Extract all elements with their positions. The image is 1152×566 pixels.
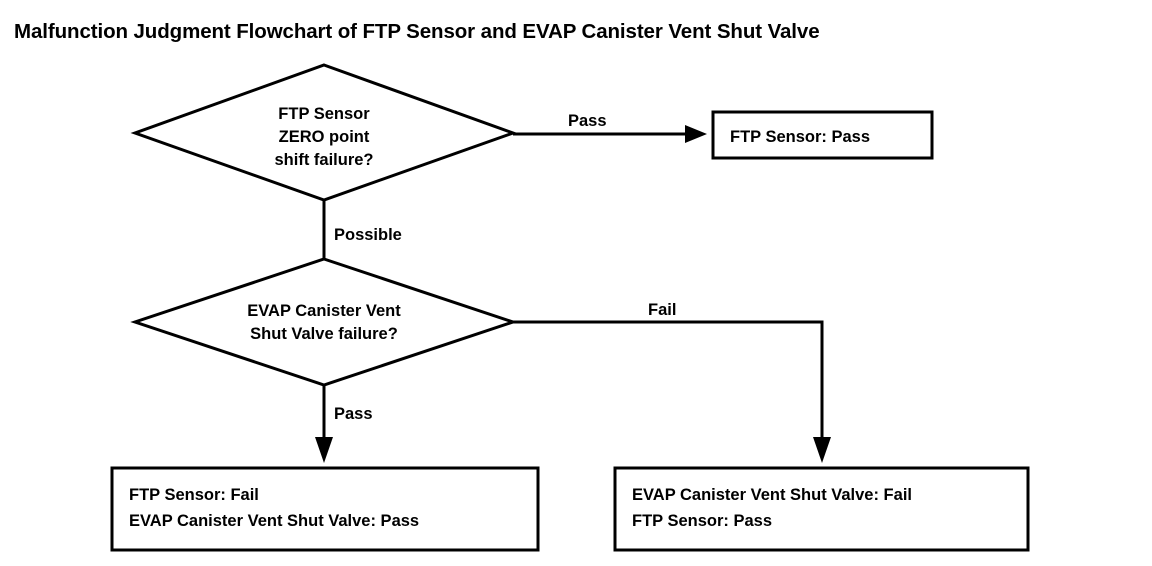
edge-label-possible: Possible [334, 226, 402, 244]
edge-ftp-to-evap: Possible [324, 200, 402, 259]
result-ftp-fail-line-1: FTP Sensor: Fail [129, 486, 259, 504]
page-title: Malfunction Judgment Flowchart of FTP Se… [14, 20, 820, 43]
result-evap-fail-line-2: FTP Sensor: Pass [632, 512, 772, 530]
decision-ftp-line-3: shift failure? [274, 151, 373, 169]
edge-ftp-to-pass: Pass [513, 112, 707, 143]
decision-node-evap-valve: EVAP Canister Vent Shut Valve failure? [135, 259, 513, 385]
decision-ftp-line-1: FTP Sensor [278, 105, 370, 123]
result-node-evap-fail: EVAP Canister Vent Shut Valve: Fail FTP … [615, 468, 1028, 550]
arrowhead-evap-to-ftp-fail [315, 437, 333, 463]
edge-evap-to-ftp-fail: Pass [315, 385, 373, 463]
edge-label-pass-evap: Pass [334, 405, 373, 423]
edge-label-fail: Fail [648, 301, 676, 319]
arrowhead-evap-to-evap-fail [813, 437, 831, 463]
arrowhead-ftp-to-pass [685, 125, 707, 143]
decision-ftp-line-2: ZERO point [279, 128, 370, 146]
diamond-shape-evap-valve [135, 259, 513, 385]
result-ftp-fail-line-2: EVAP Canister Vent Shut Valve: Pass [129, 512, 419, 530]
box-shape-ftp-fail [112, 468, 538, 550]
decision-evap-line-1: EVAP Canister Vent [247, 302, 401, 320]
flowchart-diagram: Malfunction Judgment Flowchart of FTP Se… [0, 0, 1152, 566]
edge-label-pass-ftp: Pass [568, 112, 607, 130]
decision-evap-line-2: Shut Valve failure? [250, 325, 398, 343]
decision-node-ftp-sensor: FTP Sensor ZERO point shift failure? [135, 65, 513, 200]
result-ftp-pass-line-1: FTP Sensor: Pass [730, 128, 870, 146]
result-node-ftp-sensor-pass: FTP Sensor: Pass [713, 112, 932, 158]
box-shape-evap-fail [615, 468, 1028, 550]
result-node-ftp-fail: FTP Sensor: Fail EVAP Canister Vent Shut… [112, 468, 538, 550]
flowchart-canvas: Malfunction Judgment Flowchart of FTP Se… [0, 0, 1152, 566]
result-evap-fail-line-1: EVAP Canister Vent Shut Valve: Fail [632, 486, 912, 504]
edge-evap-to-evap-fail: Fail [513, 301, 831, 463]
edge-line-evap-to-evap-fail [513, 322, 822, 440]
